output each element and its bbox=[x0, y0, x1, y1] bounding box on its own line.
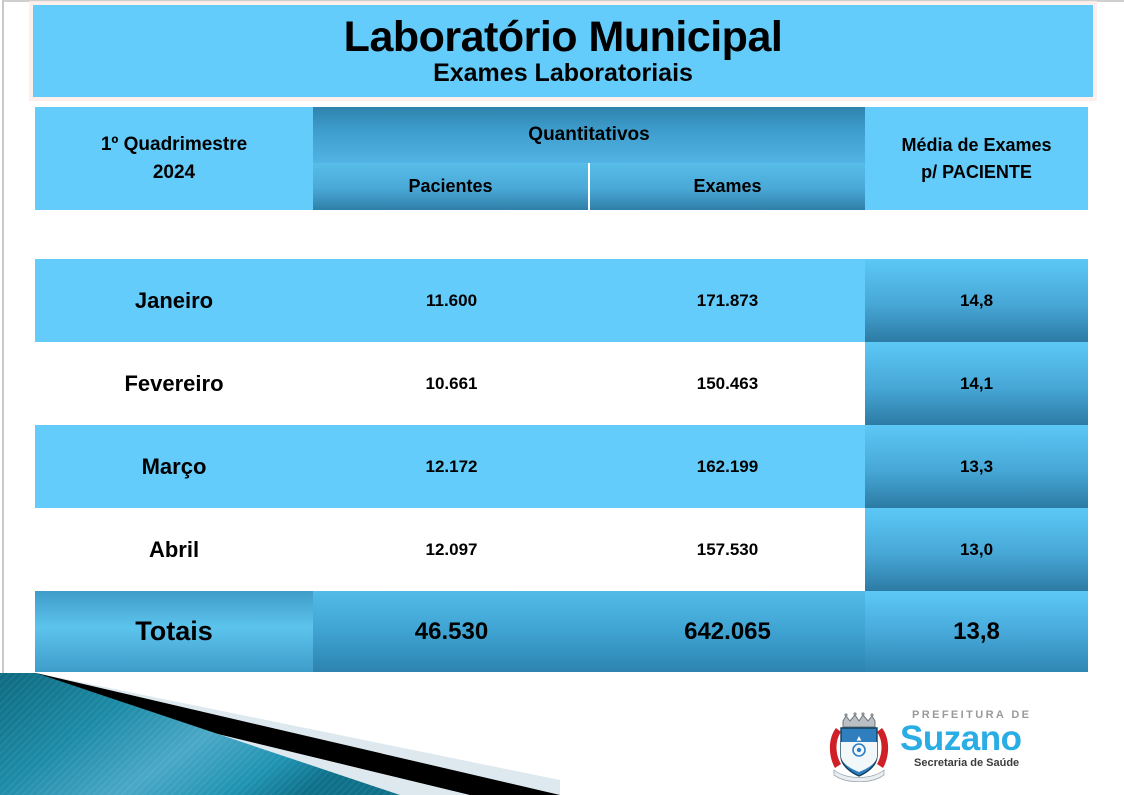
header-exames-label: Exames bbox=[693, 176, 761, 197]
cell-pacientes: 12.172 bbox=[313, 425, 590, 508]
cell-pacientes: 12.097 bbox=[313, 508, 590, 591]
header-cell-pacientes: Pacientes bbox=[313, 163, 588, 210]
cell-media: 14,1 bbox=[865, 342, 1088, 425]
header-quadrimestre-line1: 1º Quadrimestre bbox=[101, 131, 247, 159]
cell-pacientes: 11.600 bbox=[313, 259, 590, 342]
cell-month: Fevereiro bbox=[35, 342, 313, 425]
logo-secretaria-label: Secretaria de Saúde bbox=[914, 758, 1066, 769]
table-row-totals: Totais 46.530 642.065 13,8 bbox=[35, 591, 1088, 672]
header-cell-quadrimestre: 1º Quadrimestre 2024 bbox=[35, 107, 313, 210]
cell-pacientes: 10.661 bbox=[313, 342, 590, 425]
table-row: Janeiro 11.600 171.873 14,8 bbox=[35, 259, 1088, 342]
header-cell-quantitativos: Quantitativos bbox=[313, 107, 865, 163]
cell-month: Janeiro bbox=[35, 259, 313, 342]
table-row: Fevereiro 10.661 150.463 14,1 bbox=[35, 342, 1088, 425]
cell-media: 13,3 bbox=[865, 425, 1088, 508]
cell-month: Março bbox=[35, 425, 313, 508]
cell-media: 14,8 bbox=[865, 259, 1088, 342]
title-banner: Laboratório Municipal Exames Laboratoria… bbox=[33, 5, 1093, 97]
header-pacientes-label: Pacientes bbox=[408, 176, 492, 197]
totals-media: 13,8 bbox=[865, 591, 1088, 672]
cell-exames: 150.463 bbox=[590, 342, 865, 425]
totals-pacientes: 46.530 bbox=[313, 591, 590, 672]
top-edge-rule bbox=[2, 0, 1124, 2]
header-quadrimestre-line2: 2024 bbox=[101, 159, 247, 187]
header-media-line1: Média de Exames bbox=[901, 132, 1051, 158]
header-cell-exames: Exames bbox=[590, 163, 865, 210]
cell-month: Abril bbox=[35, 508, 313, 591]
suzano-coat-of-arms-icon bbox=[826, 712, 892, 782]
totals-exames: 642.065 bbox=[590, 591, 865, 672]
page-title: Laboratório Municipal bbox=[344, 16, 783, 59]
table-row: Março 12.172 162.199 13,3 bbox=[35, 425, 1088, 508]
cell-exames: 162.199 bbox=[590, 425, 865, 508]
suzano-logo: PREFEITURA DE Suzano Secretaria de Saúde bbox=[826, 708, 1066, 786]
page-subtitle: Exames Laboratoriais bbox=[433, 61, 693, 86]
left-edge-rule bbox=[2, 0, 4, 795]
suzano-logo-text: PREFEITURA DE Suzano Secretaria de Saúde bbox=[900, 710, 1066, 769]
cell-exames: 157.530 bbox=[590, 508, 865, 591]
header-cell-media-exames: Média de Exames p/ PACIENTE bbox=[865, 107, 1088, 210]
header-media-line2: p/ PACIENTE bbox=[901, 159, 1051, 185]
decorative-corner-ribbon bbox=[0, 668, 560, 795]
logo-city-label: Suzano bbox=[900, 722, 1066, 755]
cell-exames: 171.873 bbox=[590, 259, 865, 342]
cell-media: 13,0 bbox=[865, 508, 1088, 591]
header-quantitativos-label: Quantitativos bbox=[528, 124, 649, 146]
totals-label: Totais bbox=[35, 591, 313, 672]
table-row: Abril 12.097 157.530 13,0 bbox=[35, 508, 1088, 591]
